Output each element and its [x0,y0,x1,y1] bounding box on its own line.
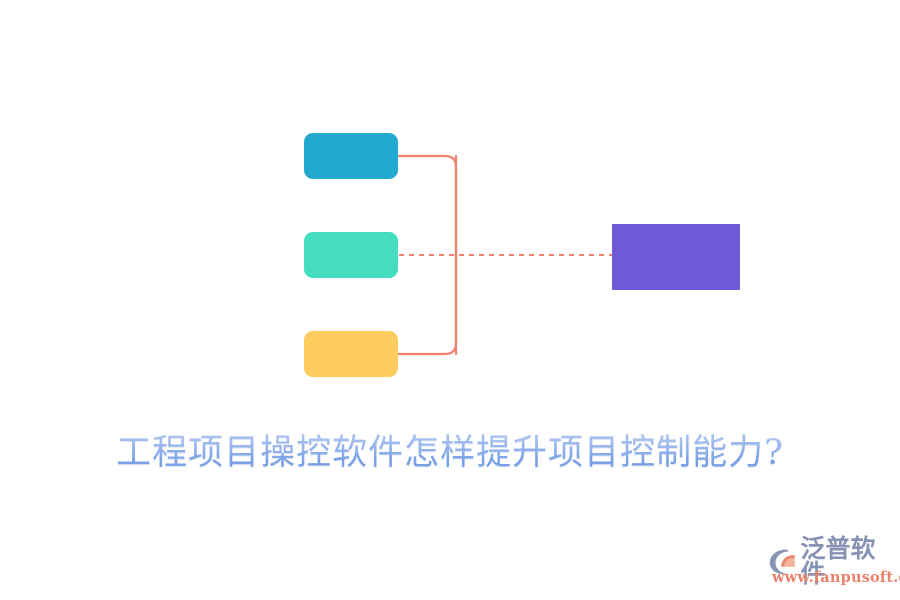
page-canvas: 工程项目操控软件怎样提升项目控制能力? 工程项目操控软件怎样提升项目控制能力? … [0,0,900,600]
diagram-connectors [0,0,900,420]
page-title: 工程项目操控软件怎样提升项目控制能力? [0,424,900,475]
diagram-node-teal[interactable] [304,232,398,278]
diagram-node-blue[interactable] [304,133,398,179]
brand-logo: 泛普软件 www.fanpusoft.com [766,536,896,592]
connector-yellow-to-junction [399,255,456,354]
connector-blue-to-junction [399,156,456,255]
brand-url: www.fanpusoft.com [772,569,900,586]
diagram-node-yellow[interactable] [304,331,398,377]
diagram-node-purple[interactable] [612,224,740,290]
diagram-area [0,0,900,420]
